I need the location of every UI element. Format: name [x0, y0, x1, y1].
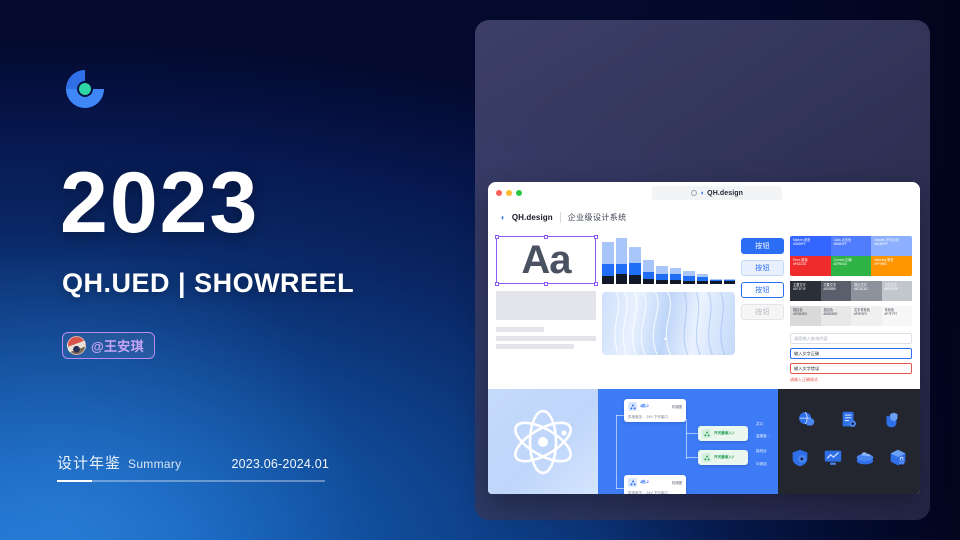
- color-palette-gray: 主要文字#1F1F1F次要文字#595959提示文字#8C8C8C占位文字#BF…: [790, 281, 912, 301]
- globe-cloud-icon[interactable]: [795, 409, 817, 436]
- swatch-hex: #2FB344: [834, 262, 869, 266]
- chart-segment: [616, 274, 628, 284]
- placeholder-line: [496, 327, 544, 332]
- swatch-hex: #3366FF: [793, 242, 828, 246]
- color-swatch[interactable]: Error-错误#F5222D: [790, 256, 831, 276]
- browser-chrome: ◖ QH.design: [488, 182, 920, 204]
- url-text: QH.design: [707, 190, 743, 197]
- chart-bar: [602, 242, 614, 284]
- flow-connector: [616, 415, 624, 416]
- chart-bar: [724, 279, 736, 284]
- color-swatch[interactable]: 描边色#D9D9D9: [790, 306, 821, 326]
- minimize-icon[interactable]: [506, 190, 512, 196]
- flow-node[interactable]: 开关量输入1: [698, 426, 748, 441]
- resize-handle-icon[interactable]: [594, 282, 598, 286]
- node-subtitle: 供电电压： 24V 下行接口: [628, 490, 682, 495]
- resize-handle-icon[interactable]: [495, 235, 499, 239]
- swatch-hex: #595959: [824, 287, 849, 291]
- node-icon: [702, 429, 711, 438]
- maximize-icon[interactable]: [516, 190, 522, 196]
- chart-bar: [656, 266, 668, 284]
- icon-row-bottom: [784, 447, 914, 474]
- chart-segment: [629, 263, 641, 275]
- document-settings-icon[interactable]: [838, 409, 860, 436]
- text-input-valid[interactable]: 输入文字正确: [790, 348, 912, 359]
- node-title: 开关量输入2: [714, 455, 734, 460]
- chart-segment: [602, 242, 614, 264]
- resize-handle-icon[interactable]: [594, 235, 598, 239]
- chart-bar: [629, 247, 641, 284]
- swatch-hex: #FF9500: [874, 262, 909, 266]
- placeholder-lines: [496, 327, 596, 349]
- chart-segment: [616, 238, 628, 264]
- chart-segment: [643, 260, 655, 272]
- node-meta: 机械图: [672, 404, 682, 409]
- chart-segment: [683, 281, 695, 284]
- placeholder-line: [496, 344, 574, 349]
- chart-segment: [643, 272, 655, 279]
- icon-row-top: [784, 409, 914, 436]
- stacked-bar-chart: [602, 236, 735, 284]
- flow-connector: [616, 488, 624, 489]
- action-button-soft[interactable]: 按钮: [741, 260, 784, 276]
- node-icon: [628, 478, 637, 487]
- action-button-ghost[interactable]: 按钮: [741, 282, 784, 298]
- typography-sample: Aa: [521, 240, 570, 280]
- node-icon: [628, 402, 637, 411]
- traffic-lights: [496, 190, 522, 196]
- color-swatch[interactable]: 提示文字#8C8C8C: [851, 281, 882, 301]
- flow-side-label: 温度度…: [756, 434, 770, 439]
- color-swatch[interactable]: Correct-正确#2FB344: [831, 256, 872, 276]
- footer-title-en: Summary: [128, 457, 181, 471]
- swatch-hex: #5B84FF: [834, 242, 869, 246]
- color-swatch[interactable]: 描边色#E8E8E8: [821, 306, 852, 326]
- chart-segment: [710, 281, 722, 284]
- monitor-chart-icon[interactable]: [822, 447, 844, 474]
- hand-shield-icon[interactable]: [881, 409, 903, 436]
- footer-divider: [57, 480, 325, 482]
- color-swatch[interactable]: Marine-深蓝#3366FF: [790, 236, 831, 256]
- chart-bar: [683, 271, 695, 284]
- chart-segment: [656, 280, 668, 284]
- brand-name: QH.design: [512, 213, 553, 222]
- close-icon[interactable]: [496, 190, 502, 196]
- box-lock-icon[interactable]: [887, 447, 909, 474]
- shield-gear-icon[interactable]: [789, 447, 811, 474]
- typography-column: Aa: [496, 232, 596, 383]
- footer-summary: 设计年鉴 Summary 2023.06-2024.01: [57, 452, 329, 482]
- node-title: 4拓-2: [640, 480, 649, 485]
- swatch-hex: #D9D9D9: [793, 312, 818, 316]
- form-fields: 请您输入查询内容 输入文字正确 输入文字错误 请输入正确格式: [790, 333, 912, 383]
- error-message: 请输入正确格式: [790, 377, 912, 383]
- atom-icon: [504, 403, 582, 481]
- node-title: 4拓-2: [640, 404, 649, 409]
- qh-mark-icon: ◖: [700, 190, 704, 197]
- site-header: ◖ QH.design 企业级设计系统: [488, 204, 920, 230]
- wave-gradient-image: [602, 292, 735, 355]
- globe-icon: [691, 190, 697, 196]
- swatch-hex: #E8E8E8: [824, 312, 849, 316]
- swatch-hex: #BFBFBF: [885, 287, 910, 291]
- node-title: 开关量输入1: [714, 431, 734, 436]
- action-button-primary[interactable]: 按钮: [741, 238, 784, 254]
- color-swatch[interactable]: 次要文字#595959: [821, 281, 852, 301]
- action-button-disabled: 按钮: [741, 304, 784, 320]
- site-subtitle: 企业级设计系统: [568, 212, 627, 223]
- flow-connector: [616, 415, 617, 489]
- flow-diagram-panel: 4拓-2 机械图 供电电压： 24V 下行接口 开关量输入1: [598, 389, 778, 494]
- hero-section: 2023 QH.UED | SHOWREEL @王安琪 设计年鉴 Summary…: [0, 0, 470, 540]
- page-title-year: 2023: [60, 160, 259, 246]
- page-subtitle: QH.UED | SHOWREEL: [62, 268, 354, 299]
- flow-connector: [686, 419, 687, 459]
- chart-segment: [697, 281, 709, 284]
- showcase-row: 4拓-2 机械图 供电电压： 24V 下行接口 开关量输入1: [488, 389, 920, 494]
- typography-specimen[interactable]: Aa: [496, 236, 596, 284]
- atom-panel: [488, 389, 598, 494]
- flow-side-label: 中继站: [756, 462, 767, 467]
- placeholder-line: [496, 336, 596, 341]
- flow-node[interactable]: 4拓-2 机械图 供电电压： 24V 下行接口: [624, 475, 686, 494]
- url-bar[interactable]: ◖ QH.design: [652, 186, 782, 200]
- swatch-hex: #F0F0F0: [854, 312, 879, 316]
- chart-bar: [616, 238, 628, 284]
- flow-side-label: 接线台: [756, 449, 767, 454]
- swatch-hex: #8CB0FF: [874, 242, 909, 246]
- icon-showcase-panel: [778, 389, 920, 494]
- browser-window: ◖ QH.design ◖ QH.design 企业级设计系统 Aa: [488, 182, 920, 494]
- swatch-hex: #8C8C8C: [854, 287, 879, 291]
- chart-segment: [724, 281, 736, 284]
- header-divider: [560, 212, 561, 223]
- flow-connector: [686, 457, 698, 458]
- flow-node[interactable]: 开关量输入2: [698, 450, 748, 465]
- swatch-hex: #F5222D: [793, 262, 828, 266]
- node-icon: [702, 453, 711, 462]
- browser-content: Aa: [488, 230, 920, 494]
- color-palette-primary: Marine-深蓝#3366FFClick-点击色#5B84FFDisable-…: [790, 236, 912, 276]
- placeholder-block: [496, 291, 596, 320]
- color-palette-light: 描边色#D9D9D9描边色#E8E8E8文字背景色#F0F0F0背景色#F7F7…: [790, 306, 912, 326]
- chart-segment: [602, 264, 614, 276]
- avatar: [67, 336, 86, 355]
- color-swatch[interactable]: 文字背景色#F0F0F0: [851, 306, 882, 326]
- resize-handle-icon[interactable]: [495, 282, 499, 286]
- footer-title-cn: 设计年鉴: [57, 452, 121, 473]
- swatch-hex: #1F1F1F: [793, 287, 818, 291]
- chart-column: [602, 232, 735, 383]
- search-input[interactable]: 请您输入查询内容: [790, 333, 912, 344]
- color-swatch[interactable]: Disable-不可点击#8CB0FF: [871, 236, 912, 256]
- chart-bar: [697, 274, 709, 284]
- footer-date-range: 2023.06-2024.01: [231, 457, 329, 471]
- chart-segment: [629, 247, 641, 263]
- chart-bar: [643, 260, 655, 284]
- chart-segment: [643, 279, 655, 284]
- chart-segment: [656, 266, 668, 275]
- chart-bar: [710, 279, 722, 284]
- chart-bar: [670, 268, 682, 284]
- flow-connector: [686, 433, 698, 434]
- chart-segment: [616, 264, 628, 274]
- author-name: @王安琪: [91, 336, 144, 355]
- node-meta: 机械图: [672, 480, 682, 485]
- flow-side-label: 井口: [756, 422, 763, 427]
- brand-mark-icon: ◖: [500, 213, 505, 222]
- text-input-error[interactable]: 输入文字错误: [790, 363, 912, 374]
- qh-logo-icon: [62, 66, 108, 112]
- color-swatch[interactable]: Click-点击色#5B84FF: [831, 236, 872, 256]
- color-swatch[interactable]: 背景色#F7F7F7: [882, 306, 913, 326]
- color-swatch[interactable]: 主要文字#1F1F1F: [790, 281, 821, 301]
- buttons-column: 按钮按钮按钮按钮: [741, 232, 784, 383]
- author-badge[interactable]: @王安琪: [62, 332, 155, 359]
- chart-segment: [629, 275, 641, 284]
- flow-node[interactable]: 4拓-2 机械图 供电电压： 24V 下行接口: [624, 399, 686, 422]
- cloud-stack-icon[interactable]: [854, 447, 876, 474]
- swatch-hex: #F7F7F7: [885, 312, 910, 316]
- node-subtitle: 供电电压： 24V 下行接口: [628, 414, 682, 419]
- palette-forms-column: Marine-深蓝#3366FFClick-点击色#5B84FFDisable-…: [790, 232, 912, 383]
- color-swatch[interactable]: 占位文字#BFBFBF: [882, 281, 913, 301]
- resize-handle-icon[interactable]: [544, 282, 548, 286]
- color-swatch[interactable]: Warning-警告#FF9500: [871, 256, 912, 276]
- resize-handle-icon[interactable]: [544, 235, 548, 239]
- chart-segment: [602, 276, 614, 284]
- components-row: Aa: [488, 230, 920, 389]
- chart-segment: [670, 280, 682, 284]
